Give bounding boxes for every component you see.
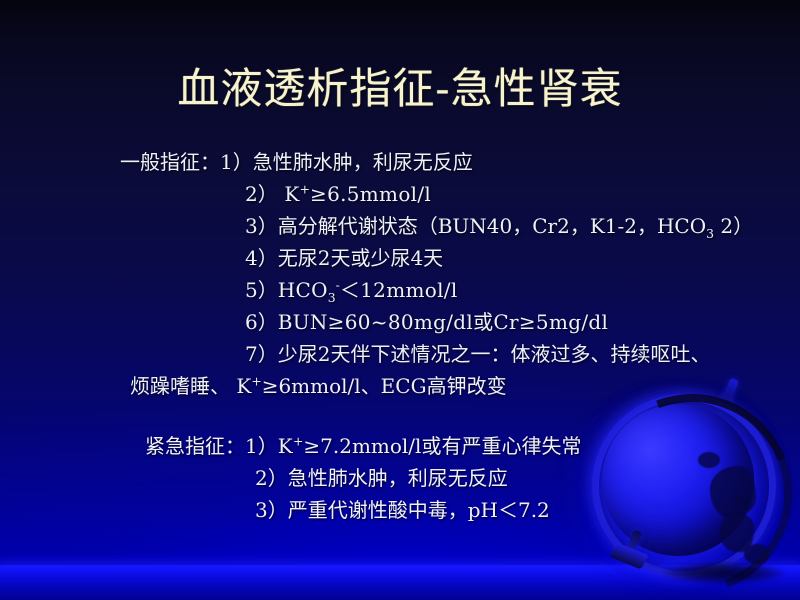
general-item-7-text: 少尿2天伴下述情况之一：体液过多、持续呕吐、	[278, 342, 711, 366]
presentation-slide: 血液透析指征-急性肾衰 一般指征：1）急性肺水肿，利尿无反应 2） K+≥6.5…	[0, 0, 800, 600]
spacer	[0, 408, 800, 436]
emergency-item-2-num: 2）	[255, 466, 288, 490]
bottom-band-glow	[0, 552, 800, 570]
globe-base	[609, 543, 649, 570]
emergency-line-1: 紧急指征：1）K+≥7.2mmol/l或有严重心律失常	[0, 436, 800, 468]
general-item-2-post: ≥6.5mmol/l	[310, 182, 431, 206]
emergency-item-1-num: 1）	[245, 434, 278, 458]
general-item-5-post: ＜12mmol/l	[340, 278, 458, 302]
general-item-3-num: 3）	[245, 214, 278, 238]
general-line-7-continuation: 烦躁嗜睡、 K+≥6mmol/l、ECG高钾改变	[0, 376, 800, 408]
general-item-5-sub: 3	[328, 290, 336, 305]
general-line-2: 2） K+≥6.5mmol/l	[0, 184, 800, 216]
emergency-item-1-post: ≥7.2mmol/l或有严重心律失常	[303, 434, 581, 458]
general-item-2-num: 2）	[245, 182, 278, 206]
emergency-item-2-text: 急性肺水肿，利尿无反应	[288, 466, 508, 490]
slide-body: 一般指征：1）急性肺水肿，利尿无反应 2） K+≥6.5mmol/l 3）高分解…	[0, 152, 800, 532]
general-line-3: 3）高分解代谢状态（BUN40，Cr2，K1-2，HCO3 2）	[0, 216, 800, 248]
general-item-3-sub: 3	[706, 226, 714, 241]
general-item-1-text: 急性肺水肿，利尿无反应	[253, 150, 473, 174]
globe-landmass	[744, 544, 770, 564]
emergency-item-1-pre: K	[278, 434, 293, 458]
general-line-6: 6）BUN≥60~80mg/dl或Cr≥5mg/dl	[0, 312, 800, 344]
general-item-4-text: 无尿2天或少尿4天	[278, 246, 443, 270]
general-item-2-sup: +	[300, 181, 310, 196]
general-item-3-post: 2）	[714, 214, 753, 238]
slide-title: 血液透析指征-急性肾衰	[0, 66, 800, 112]
general-item-4-num: 4）	[245, 246, 278, 270]
emergency-item-3-text: 严重代谢性酸中毒，pH＜7.2	[288, 498, 550, 522]
emergency-item-1-sup: +	[293, 433, 303, 448]
general-item-6-num: 6）	[245, 310, 278, 334]
emergency-heading: 紧急指征：	[145, 434, 245, 458]
emergency-line-2: 2）急性肺水肿，利尿无反应	[0, 468, 800, 500]
general-item-5-num: 5）	[245, 278, 278, 302]
general-item-2-pre: K	[278, 182, 300, 206]
emergency-item-3-num: 3）	[255, 498, 288, 522]
bottom-light-band	[0, 565, 800, 600]
general-item-7-num: 7）	[245, 342, 278, 366]
general-item-1-num: 1）	[220, 150, 253, 174]
general-item-5-pre: HCO	[278, 278, 328, 302]
emergency-line-3: 3）严重代谢性酸中毒，pH＜7.2	[0, 500, 800, 532]
globe-cast-shadow	[664, 562, 784, 584]
continuation-sup: +	[251, 373, 261, 388]
general-item-6-text: BUN≥60~80mg/dl或Cr≥5mg/dl	[278, 310, 608, 334]
globe-axis-bottom	[623, 529, 643, 560]
continuation-post: ≥6mmol/l、ECG高钾改变	[262, 374, 507, 398]
general-line-5: 5）HCO3-＜12mmol/l	[0, 280, 800, 312]
general-heading: 一般指征：	[120, 150, 220, 174]
general-line-7: 7）少尿2天伴下述情况之一：体液过多、持续呕吐、	[0, 344, 800, 376]
general-item-3-pre: 高分解代谢状态（BUN40，Cr2，K1-2，HCO	[278, 214, 706, 238]
general-line-1: 一般指征：1）急性肺水肿，利尿无反应	[0, 152, 800, 184]
general-line-4: 4）无尿2天或少尿4天	[0, 248, 800, 280]
continuation-pre: 烦躁嗜睡、 K	[130, 374, 251, 398]
